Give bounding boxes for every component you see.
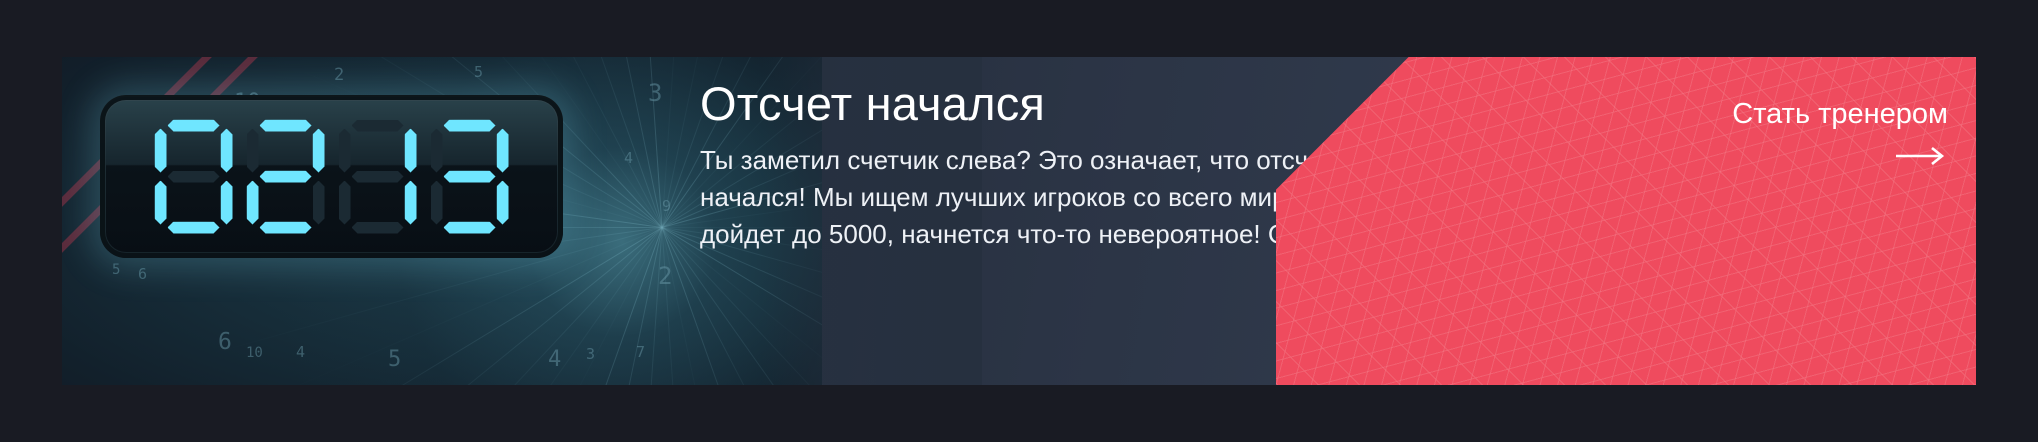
digit-segment-c	[313, 181, 325, 225]
digit-segment-b	[497, 129, 509, 173]
counter-digit	[155, 120, 233, 234]
digit-segment-f	[247, 129, 259, 173]
digit-segment-f	[431, 129, 443, 173]
digit-segment-b	[221, 129, 233, 173]
digit-segment-c	[405, 181, 417, 225]
digit-segment-a	[444, 120, 496, 132]
digit-segment-g	[168, 171, 220, 183]
page-title: Отсчет начался	[700, 79, 1580, 128]
digit-segment-b	[405, 129, 417, 173]
digit-segment-e	[339, 181, 351, 225]
digit-segment-a	[352, 120, 404, 132]
counter-digit	[339, 120, 417, 234]
arrow-right-icon	[1894, 145, 1948, 167]
digit-segment-f	[339, 129, 351, 173]
digit-segment-g	[444, 171, 496, 183]
digit-segment-c	[221, 181, 233, 225]
digit-segment-b	[313, 129, 325, 173]
digit-segment-e	[247, 181, 259, 225]
digit-segment-d	[168, 222, 220, 234]
counter-digit	[247, 120, 325, 234]
digit-segment-c	[497, 181, 509, 225]
counter-screen	[106, 101, 557, 252]
banner-content: Отсчет начался Ты заметил счетчик слева?…	[700, 79, 1580, 253]
become-trainer-button[interactable]: Стать тренером	[1732, 99, 1948, 167]
cta-label: Стать тренером	[1732, 99, 1948, 131]
digit-segment-d	[352, 222, 404, 234]
digit-segment-a	[260, 120, 312, 132]
banner-page: 2510338974925661045437 Отсчет начался Ты…	[0, 0, 2038, 442]
digit-segment-g	[352, 171, 404, 183]
banner-description: Ты заметил счетчик слева? Это означает, …	[700, 142, 1580, 253]
counter-digit	[431, 120, 509, 234]
digit-segment-f	[155, 129, 167, 173]
digit-segment-e	[155, 181, 167, 225]
countdown-banner: 2510338974925661045437 Отсчет начался Ты…	[62, 57, 1976, 385]
countdown-counter	[100, 95, 563, 258]
digit-segment-e	[431, 181, 443, 225]
digit-segment-a	[168, 120, 220, 132]
digit-segment-d	[444, 222, 496, 234]
digit-segment-g	[260, 171, 312, 183]
light-ray	[631, 57, 663, 228]
digit-segment-d	[260, 222, 312, 234]
